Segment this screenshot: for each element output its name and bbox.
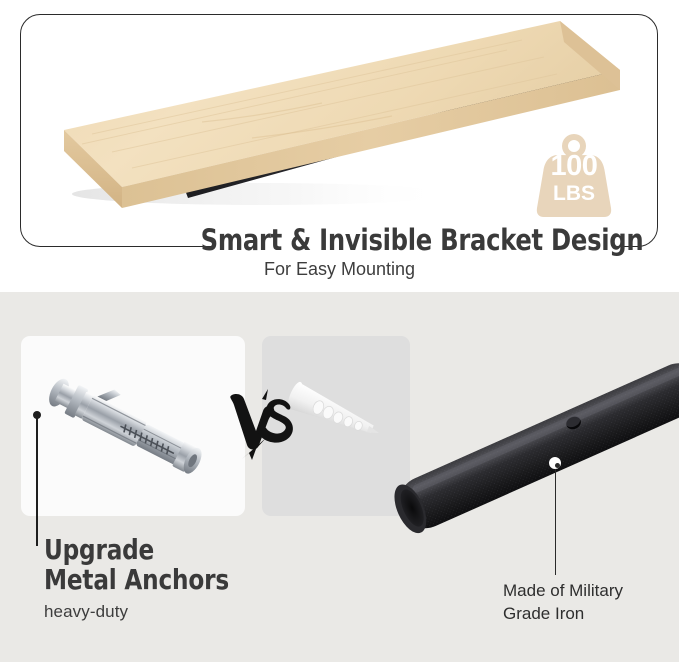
product-feature-image: 100 LBS Smart & Invisible Bracket Design… xyxy=(0,0,679,662)
headline-subtitle: For Easy Mounting xyxy=(0,259,679,280)
pipe-caption-line1: Made of Military xyxy=(503,580,679,603)
weight-capacity-badge: 100 LBS xyxy=(528,130,620,220)
upgrade-caption-subtext: heavy-duty xyxy=(44,602,344,622)
pipe-callout-line xyxy=(555,469,557,575)
upgrade-caption-line2: Metal Anchors xyxy=(44,565,320,595)
metal-anchor-callout-line xyxy=(36,418,38,546)
versus-mark xyxy=(222,383,302,463)
pipe-caption: Made of Military Grade Iron xyxy=(503,580,679,626)
iron-pipe-illustration xyxy=(370,330,679,570)
upgrade-caption: Upgrade Metal Anchors heavy-duty xyxy=(44,535,344,622)
pipe-caption-line2: Grade Iron xyxy=(503,603,679,626)
upgrade-caption-line1: Upgrade xyxy=(44,535,320,565)
headline-title: Smart & Invisible Bracket Design xyxy=(227,222,618,258)
metal-sleeve-anchor-icon xyxy=(24,368,224,488)
pipe-callout-dot xyxy=(549,457,561,469)
top-panel-shelf-bracket: 100 LBS Smart & Invisible Bracket Design… xyxy=(0,0,679,292)
